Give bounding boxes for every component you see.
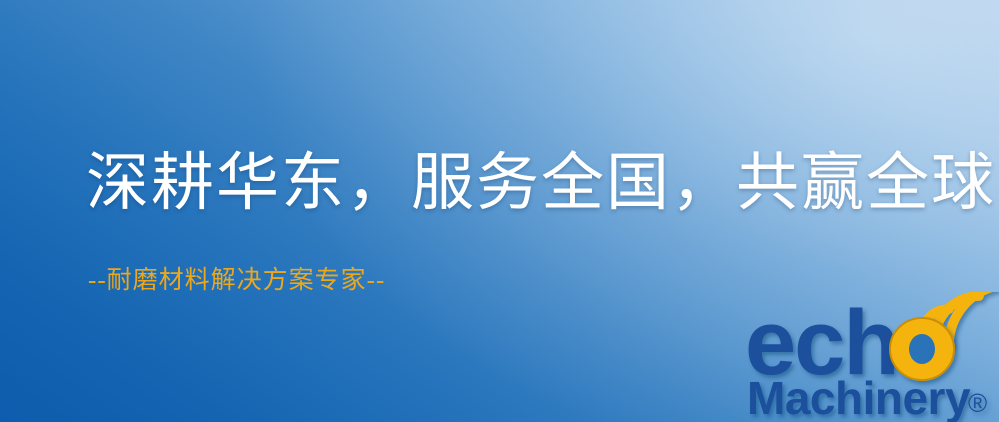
hero-banner: 深耕华东，服务全国，共赢全球 --耐磨材料解决方案专家-- ech xyxy=(0,0,999,422)
logo-tagline: Machinery xyxy=(747,372,971,422)
company-logo[interactable]: ech Machinery ® xyxy=(745,292,999,422)
logo-graphic: ech Machinery ® xyxy=(745,292,999,422)
page-subtitle: --耐磨材料解决方案专家-- xyxy=(88,268,385,293)
registered-mark-icon: ® xyxy=(968,388,987,418)
logo-wordmark-o xyxy=(890,318,954,380)
page-title: 深耕华东，服务全国，共赢全球 xyxy=(86,152,996,215)
